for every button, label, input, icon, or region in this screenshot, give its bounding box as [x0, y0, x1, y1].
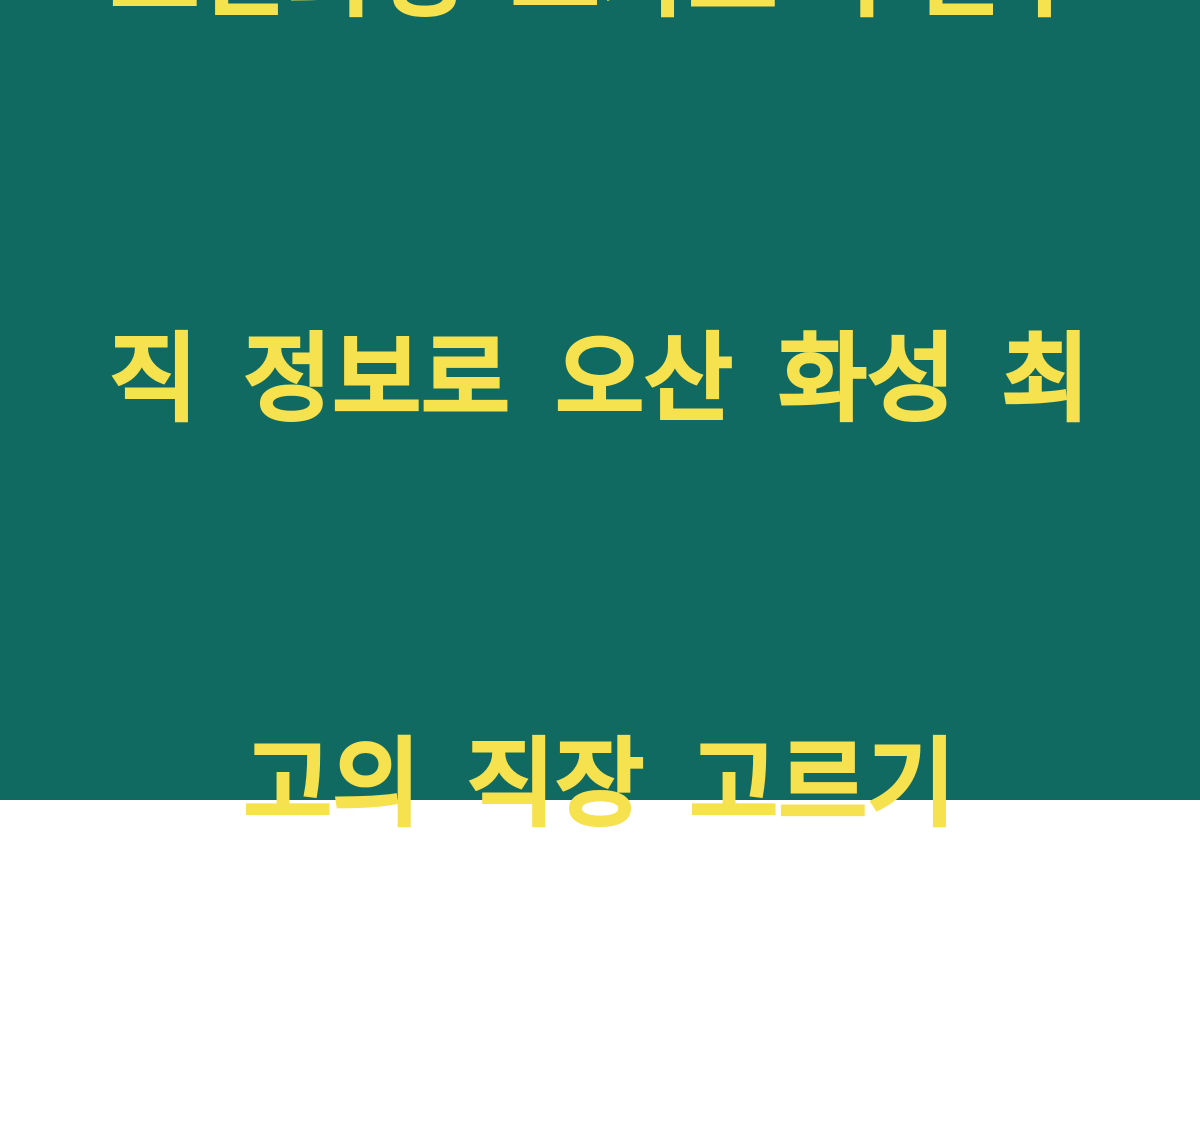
headline: 오산화성 교차로 구인구 직 정보로 오산 화성 최 고의 직장 고르기 — [70, 0, 1130, 1122]
banner-canvas: 오산화성 교차로 구인구 직 정보로 오산 화성 최 고의 직장 고르기 — [0, 0, 1200, 800]
headline-line-1: 오산화성 교차로 구인구 — [70, 0, 1130, 42]
headline-line-2: 직 정보로 오산 화성 최 — [70, 312, 1130, 447]
headline-line-3: 고의 직장 고르기 — [70, 717, 1130, 852]
